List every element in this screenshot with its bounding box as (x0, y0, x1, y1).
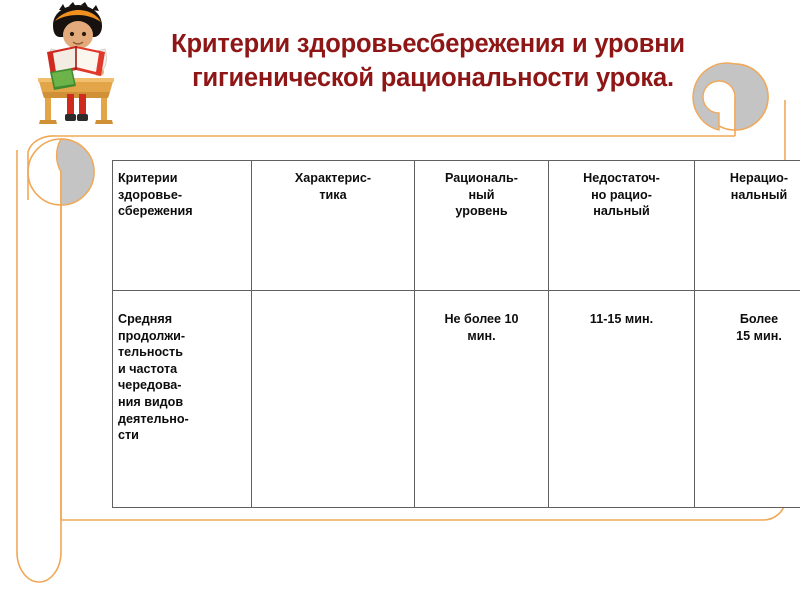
title-line-2: гигиенической рациональности урока. (108, 62, 748, 96)
column-header-rational-level: Рациональ- ный уровень (415, 161, 549, 291)
gray-accent-left (57, 139, 94, 205)
title-line-1: Критерии здоровьесбережения и уровни (108, 28, 748, 62)
column-header-irrational: Нерацио- нальный (695, 161, 800, 291)
column-header-criteria: Критерии здоровье- сбережения (113, 161, 252, 291)
column-header-insufficiently-rational: Недостаточ- но рацио- нальный (549, 161, 695, 291)
column-header-characteristic: Характерис- тика (252, 161, 415, 291)
table-header-row: Критерии здоровье- сбережения Характерис… (113, 161, 800, 291)
slide: Критерии здоровьесбережения и уровни гиг… (0, 0, 800, 600)
page-title: Критерии здоровьесбережения и уровни гиг… (108, 28, 748, 96)
cell-irrational: Более 15 мин. (695, 291, 800, 508)
table-row: Средняя продолжи- тельность и частота че… (113, 291, 800, 508)
cell-insufficient: 11-15 мин. (549, 291, 695, 508)
cell-criterion: Средняя продолжи- тельность и частота че… (113, 291, 252, 508)
cell-characteristic (252, 291, 415, 508)
criteria-table: Критерии здоровье- сбережения Характерис… (112, 160, 800, 508)
criteria-table-container: Критерии здоровье- сбережения Характерис… (112, 160, 768, 508)
cell-rational: Не более 10 мин. (415, 291, 549, 508)
